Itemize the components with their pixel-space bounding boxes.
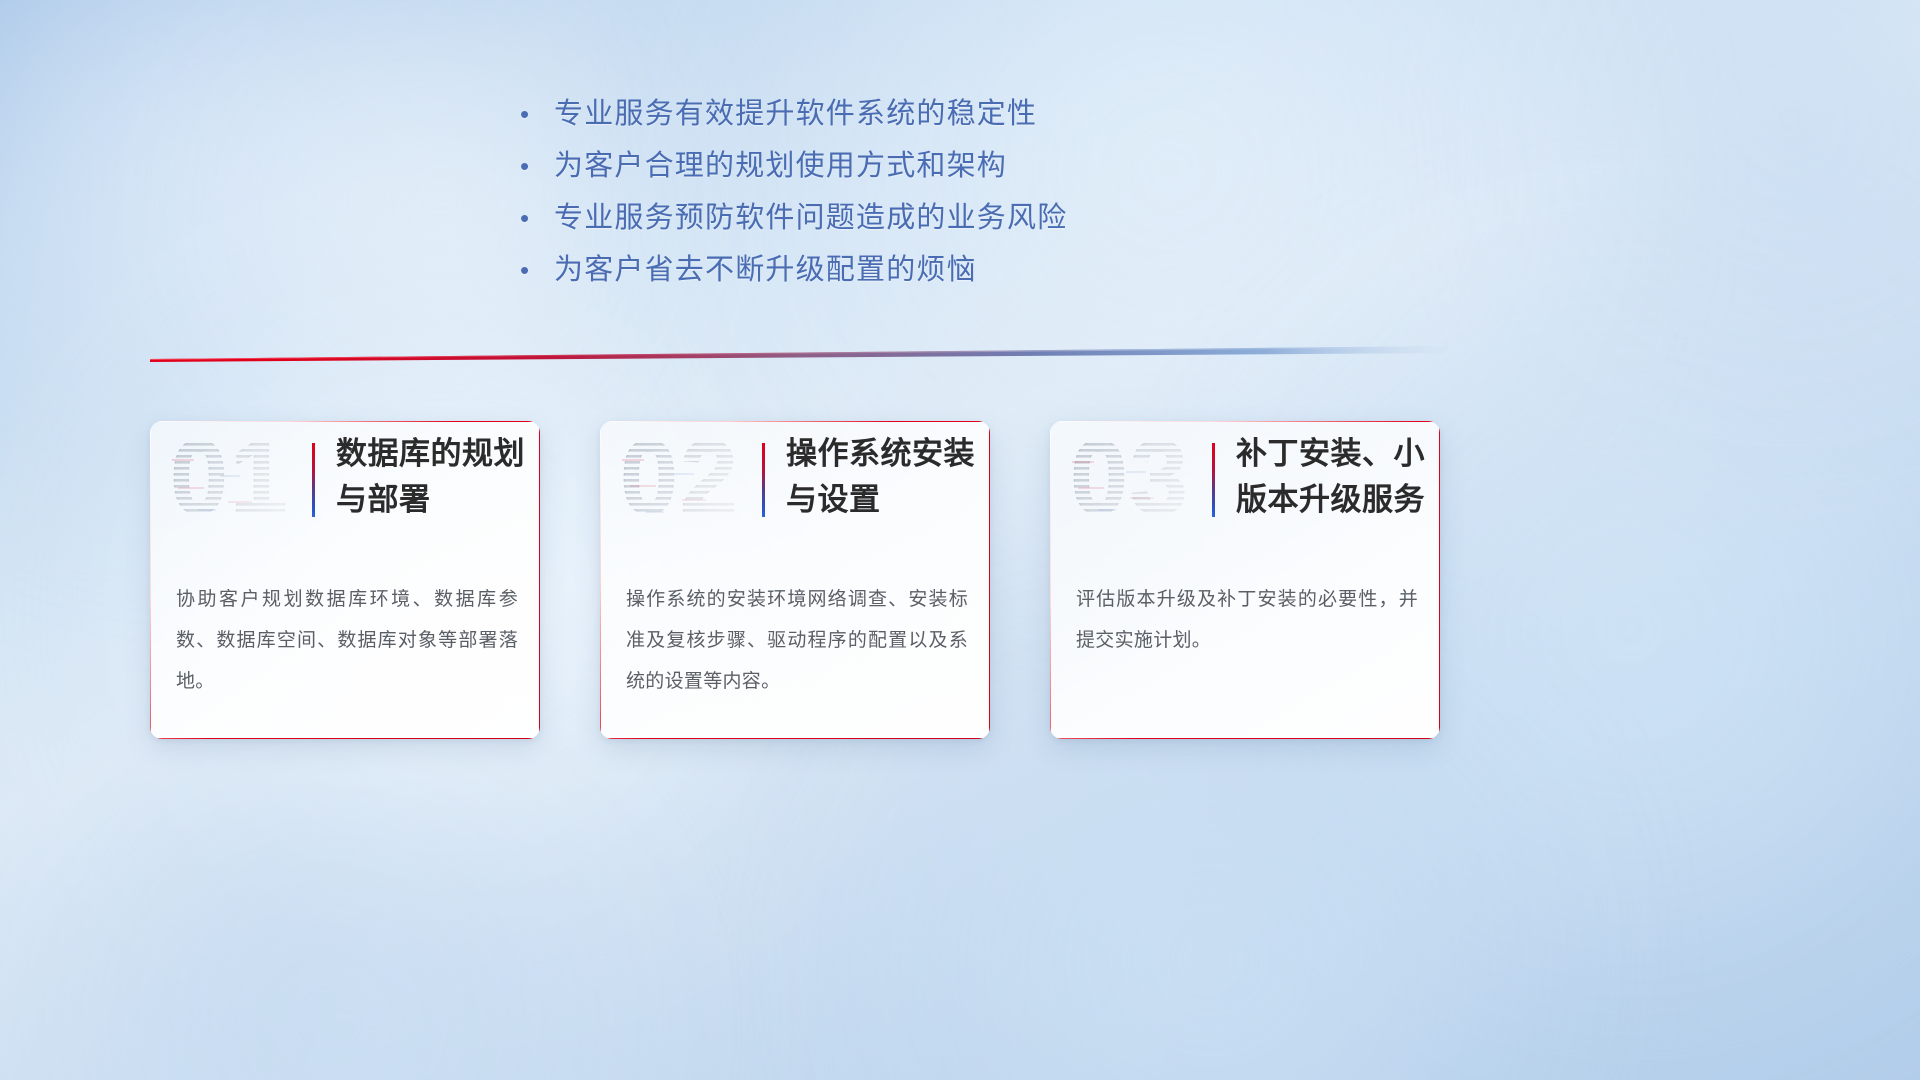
bullet-text: 专业服务预防软件问题造成的业务风险 — [554, 192, 1067, 244]
card-number-watermark: 03 — [1068, 425, 1196, 535]
card-title-line-1: 补丁安装、小 — [1236, 431, 1434, 477]
striped-number-icon: 02 — [618, 425, 746, 535]
list-item: • 专业服务预防软件问题造成的业务风险 — [520, 192, 1280, 244]
striped-number-icon: 01 — [168, 425, 296, 535]
service-card[interactable]: 02 操作系统安装 与设置 操作系统的安装环境网络调查、安装标准及复核步骤、驱动… — [600, 421, 990, 739]
bullet-dot-icon: • — [520, 192, 554, 244]
service-cards: 01 数据库的规划 与部署 协助客户规划数据库环境、数据库参数、数据库空间、数据… — [150, 421, 1450, 741]
card-title-line-1: 操作系统安装 — [786, 431, 984, 477]
list-item: • 专业服务有效提升软件系统的稳定性 — [520, 88, 1280, 140]
bullet-text: 为客户省去不断升级配置的烦恼 — [554, 244, 977, 296]
svg-text:02: 02 — [620, 425, 740, 535]
bullet-dot-icon: • — [520, 88, 554, 140]
card-title-line-2: 与设置 — [786, 477, 984, 523]
card-accent-bar — [312, 443, 315, 517]
svg-text:01: 01 — [170, 425, 290, 535]
service-card[interactable]: 03 补丁安装、小 版本升级服务 评估版本升级及补丁安装的必要性，并提交实施计划… — [1050, 421, 1440, 739]
bullet-text: 专业服务有效提升软件系统的稳定性 — [554, 88, 1037, 140]
card-number-watermark: 01 — [168, 425, 296, 535]
divider-wedge-icon — [150, 340, 1450, 366]
card-number-watermark: 02 — [618, 425, 746, 535]
card-accent-bar — [762, 443, 765, 517]
card-title-line-2: 与部署 — [336, 477, 534, 523]
service-card[interactable]: 01 数据库的规划 与部署 协助客户规划数据库环境、数据库参数、数据库空间、数据… — [150, 421, 540, 739]
card-description: 协助客户规划数据库环境、数据库参数、数据库空间、数据库对象等部署落地。 — [176, 579, 518, 702]
bullet-dot-icon: • — [520, 140, 554, 192]
card-title: 补丁安装、小 版本升级服务 — [1236, 431, 1434, 523]
card-title: 操作系统安装 与设置 — [786, 431, 984, 523]
card-accent-bar — [1212, 443, 1215, 517]
bullet-text: 为客户合理的规划使用方式和架构 — [554, 140, 1007, 192]
card-title-line-1: 数据库的规划 — [336, 431, 534, 477]
card-title: 数据库的规划 与部署 — [336, 431, 534, 523]
divider — [150, 340, 1450, 366]
striped-number-icon: 03 — [1068, 425, 1196, 535]
list-item: • 为客户合理的规划使用方式和架构 — [520, 140, 1280, 192]
card-description: 评估版本升级及补丁安装的必要性，并提交实施计划。 — [1076, 579, 1418, 661]
card-title-line-2: 版本升级服务 — [1236, 477, 1434, 523]
bullet-dot-icon: • — [520, 244, 554, 296]
card-description: 操作系统的安装环境网络调查、安装标准及复核步骤、驱动程序的配置以及系统的设置等内… — [626, 579, 968, 702]
list-item: • 为客户省去不断升级配置的烦恼 — [520, 244, 1280, 296]
svg-text:03: 03 — [1070, 425, 1190, 535]
benefits-bullet-list: • 专业服务有效提升软件系统的稳定性 • 为客户合理的规划使用方式和架构 • 专… — [520, 88, 1280, 296]
